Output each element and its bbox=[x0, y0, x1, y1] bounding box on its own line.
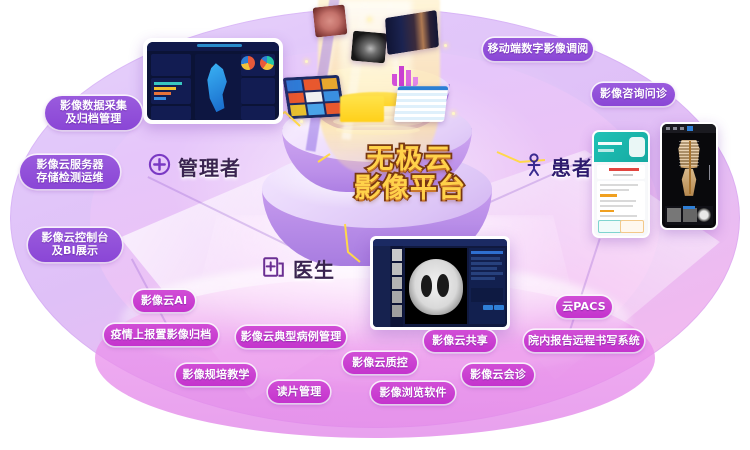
bar-chart-icon bbox=[392, 60, 418, 86]
pill-line: 及BI展示 bbox=[52, 245, 98, 258]
pill-mobile[interactable]: 移动端数字影像调阅 bbox=[483, 38, 593, 61]
sparkle bbox=[444, 44, 447, 47]
3d-viewer-screen bbox=[662, 124, 716, 228]
pill-line: 影像云质控 bbox=[352, 357, 408, 370]
sparkle bbox=[300, 120, 303, 123]
pill-line: 疫情上报置影像归档 bbox=[111, 329, 212, 342]
pill-share[interactable]: 影像云共享 bbox=[424, 330, 496, 352]
pill-line: 院内报告远程书写系统 bbox=[528, 335, 640, 348]
pill-read[interactable]: 读片管理 bbox=[268, 381, 330, 403]
ultrasound-panel bbox=[351, 31, 387, 64]
circle-plus-icon bbox=[148, 153, 171, 180]
3d-viewer-phone[interactable] bbox=[660, 122, 718, 230]
pill-line: 移动端数字影像调阅 bbox=[488, 43, 589, 56]
pill-line: 影像咨询问诊 bbox=[600, 88, 667, 101]
infographic-canvas: 管理者 患者 医生 无极云 影像平台 影像数据采集 及归档管理 影 bbox=[0, 0, 750, 450]
pill-collect[interactable]: 影像数据采集 及归档管理 bbox=[45, 96, 142, 130]
sparkle bbox=[305, 60, 308, 63]
endoscopy-panel bbox=[313, 4, 348, 37]
pill-pacs[interactable]: 云PACS bbox=[556, 296, 612, 318]
pill-line: 存储检测运维 bbox=[36, 172, 103, 185]
pill-line: 影像云共享 bbox=[432, 335, 488, 348]
tower-ring-4 bbox=[336, 125, 420, 135]
pill-ai[interactable]: 影像云AI bbox=[133, 290, 195, 312]
role-patient-label: 患者 bbox=[551, 152, 593, 181]
pill-server[interactable]: 影像云服务器 存储检测运维 bbox=[20, 155, 120, 189]
patient-report-screen bbox=[594, 132, 648, 236]
pill-line: 读片管理 bbox=[277, 386, 322, 399]
pill-line: 影像规培教学 bbox=[182, 369, 249, 382]
pill-mdt[interactable]: 影像云会诊 bbox=[462, 364, 534, 386]
role-doctor-label: 医生 bbox=[293, 254, 335, 283]
role-doctor[interactable]: 医生 bbox=[262, 254, 335, 283]
pill-viewer[interactable]: 影像浏览软件 bbox=[371, 382, 455, 404]
pill-line: 影像云会诊 bbox=[470, 369, 526, 382]
pill-line: 及归档管理 bbox=[66, 113, 122, 126]
platform-title-line1: 无极云 bbox=[330, 146, 490, 174]
pill-qc[interactable]: 影像云质控 bbox=[343, 352, 417, 374]
sparkle bbox=[368, 18, 371, 21]
bi-dashboard-tablet[interactable] bbox=[143, 38, 283, 124]
pill-report[interactable]: 院内报告远程书写系统 bbox=[524, 330, 644, 352]
pacs-viewer-laptop[interactable] bbox=[370, 236, 510, 330]
platform-title: 无极云 影像平台 bbox=[330, 146, 490, 203]
pill-epidemic[interactable]: 疫情上报置影像归档 bbox=[104, 324, 218, 346]
pill-case[interactable]: 影像云典型病例管理 bbox=[236, 326, 346, 348]
platform-title-line2: 影像平台 bbox=[330, 174, 490, 203]
pill-line: 影像浏览软件 bbox=[379, 387, 446, 400]
sparkle bbox=[452, 112, 455, 115]
pill-line: 影像云典型病例管理 bbox=[241, 331, 342, 344]
person-icon bbox=[524, 153, 544, 181]
spreadsheet-panel bbox=[394, 86, 449, 122]
pill-line: 云PACS bbox=[562, 301, 606, 314]
medical-record-icon bbox=[262, 255, 286, 283]
pacs-viewer-screen bbox=[373, 239, 507, 327]
role-admin[interactable]: 管理者 bbox=[148, 152, 241, 181]
pill-teach[interactable]: 影像规培教学 bbox=[176, 364, 256, 386]
role-admin-label: 管理者 bbox=[178, 152, 241, 181]
app-tiles-panel bbox=[283, 75, 346, 119]
tower-yellow-block bbox=[340, 96, 384, 122]
role-patient[interactable]: 患者 bbox=[524, 152, 593, 181]
patient-report-phone[interactable] bbox=[592, 130, 650, 238]
pill-consult[interactable]: 影像咨询问诊 bbox=[592, 83, 675, 106]
pill-console[interactable]: 影像云控制台 及BI展示 bbox=[28, 228, 122, 262]
pill-line: 影像云AI bbox=[141, 295, 188, 308]
bi-dashboard-screen bbox=[147, 42, 279, 120]
